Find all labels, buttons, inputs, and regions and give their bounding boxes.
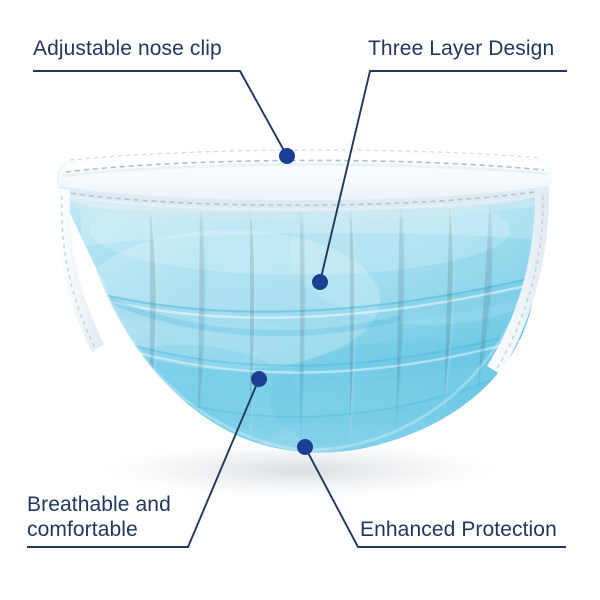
mask-infographic: Adjustable nose clip Three Layer Design … <box>0 0 600 600</box>
callout-dot-nose-clip[interactable] <box>279 148 295 164</box>
callout-dots <box>0 0 600 600</box>
callout-dot-enhanced-protection[interactable] <box>297 439 313 455</box>
callout-dot-breathable[interactable] <box>251 371 267 387</box>
callout-dot-three-layer[interactable] <box>312 274 328 290</box>
